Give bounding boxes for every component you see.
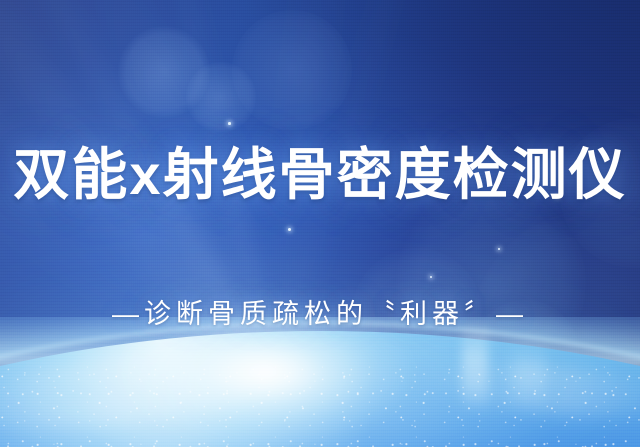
poster-banner: 双能x射线骨密度检测仪 —诊断骨质疏松的〝利器〞— [0,0,640,447]
film-grain-overlay [0,0,640,447]
